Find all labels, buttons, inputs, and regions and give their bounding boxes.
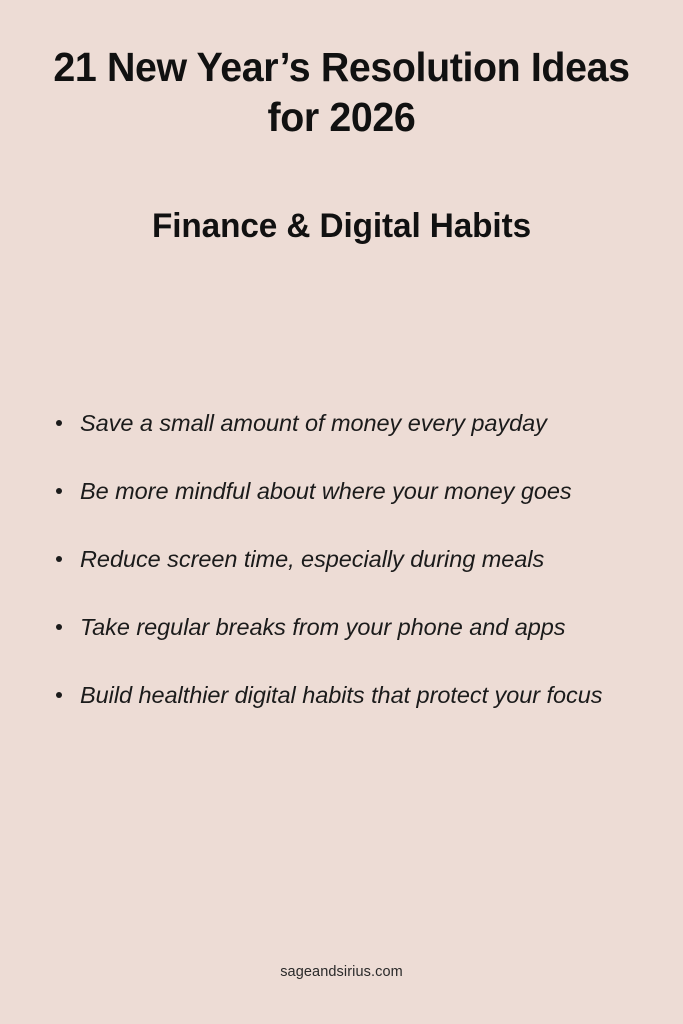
list-item-text: Build healthier digital habits that prot… — [80, 682, 602, 708]
resolution-list: Save a small amount of money every payda… — [48, 392, 648, 726]
bullet-dot-icon — [56, 692, 62, 698]
list-item-text: Reduce screen time, especially during me… — [80, 546, 544, 572]
list-item: Reduce screen time, especially during me… — [48, 528, 648, 590]
list-item: Save a small amount of money every payda… — [48, 392, 648, 454]
bullet-dot-icon — [56, 556, 62, 562]
bullet-dot-icon — [56, 420, 62, 426]
bullet-dot-icon — [56, 488, 62, 494]
list-item: Build healthier digital habits that prot… — [48, 664, 648, 726]
bullet-dot-icon — [56, 624, 62, 630]
section-subtitle: Finance & Digital Habits — [24, 206, 658, 247]
page-title: 21 New Year’s Resolution Ideas for 2026 — [31, 42, 652, 142]
resolution-list-block: Save a small amount of money every payda… — [48, 392, 648, 732]
footer-block: sageandsirius.com — [0, 963, 683, 982]
title-block: 21 New Year’s Resolution Ideas for 2026 — [18, 42, 665, 142]
list-item: Take regular breaks from your phone and … — [48, 596, 648, 658]
subtitle-block: Finance & Digital Habits — [18, 206, 665, 247]
list-item: Be more mindful about where your money g… — [48, 460, 648, 522]
site-watermark: sageandsirius.com — [0, 963, 683, 982]
list-item-text: Save a small amount of money every payda… — [80, 410, 547, 436]
pin-graphic: 21 New Year’s Resolution Ideas for 2026 … — [0, 0, 683, 1024]
list-item-text: Take regular breaks from your phone and … — [80, 614, 566, 640]
list-item-text: Be more mindful about where your money g… — [80, 478, 572, 504]
